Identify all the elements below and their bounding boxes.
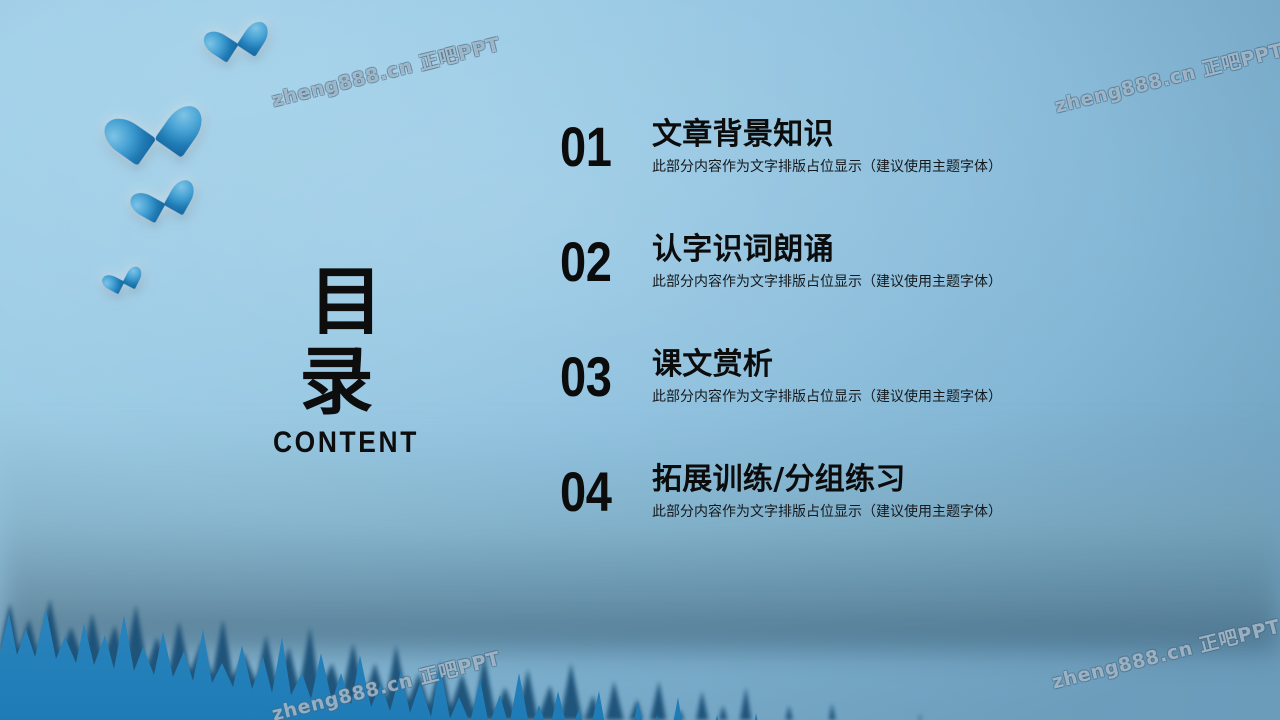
agenda-title-02: 认字识词朗诵 (652, 231, 1002, 269)
agenda-title-04: 拓展训练/分组练习 (652, 461, 1002, 499)
agenda-number-03: 03 (560, 348, 611, 406)
title-english: CONTENT (240, 426, 451, 460)
presentation-slide: 目 录 CONTENT 01 文章背景知识 此部分内容作为文字排版占位显示（建议… (0, 0, 1280, 720)
page-title: 目 录 CONTENT (226, 262, 466, 460)
grass-front-layer (0, 595, 1280, 720)
agenda-desc-04: 此部分内容作为文字排版占位显示（建议使用主题字体） (652, 503, 1002, 521)
heart-icon-1 (210, 8, 259, 56)
agenda-title-03: 课文赏析 (652, 346, 1002, 384)
agenda-item-03[interactable]: 03 课文赏析 此部分内容作为文字排版占位显示（建议使用主题字体） (560, 348, 1180, 463)
agenda-number-02: 02 (560, 233, 611, 291)
agenda-item-02[interactable]: 02 认字识词朗诵 此部分内容作为文字排版占位显示（建议使用主题字体） (560, 233, 1180, 348)
title-chinese: 目 录 (226, 262, 466, 422)
heart-icon-2 (115, 85, 188, 155)
agenda-title-01: 文章背景知识 (652, 116, 1002, 154)
agenda-number-04: 04 (560, 463, 611, 521)
agenda-desc-03: 此部分内容作为文字排版占位显示（建议使用主题字体） (652, 388, 1002, 406)
agenda-item-01[interactable]: 01 文章背景知识 此部分内容作为文字排版占位显示（建议使用主题字体） (560, 118, 1180, 233)
agenda-item-04[interactable]: 04 拓展训练/分组练习 此部分内容作为文字排版占位显示（建议使用主题字体） (560, 463, 1180, 578)
agenda-number-01: 01 (560, 118, 611, 176)
agenda-desc-01: 此部分内容作为文字排版占位显示（建议使用主题字体） (652, 158, 1002, 176)
agenda-desc-02: 此部分内容作为文字排版占位显示（建议使用主题字体） (652, 273, 1002, 291)
agenda-list: 01 文章背景知识 此部分内容作为文字排版占位显示（建议使用主题字体） 02 认… (560, 118, 1180, 578)
